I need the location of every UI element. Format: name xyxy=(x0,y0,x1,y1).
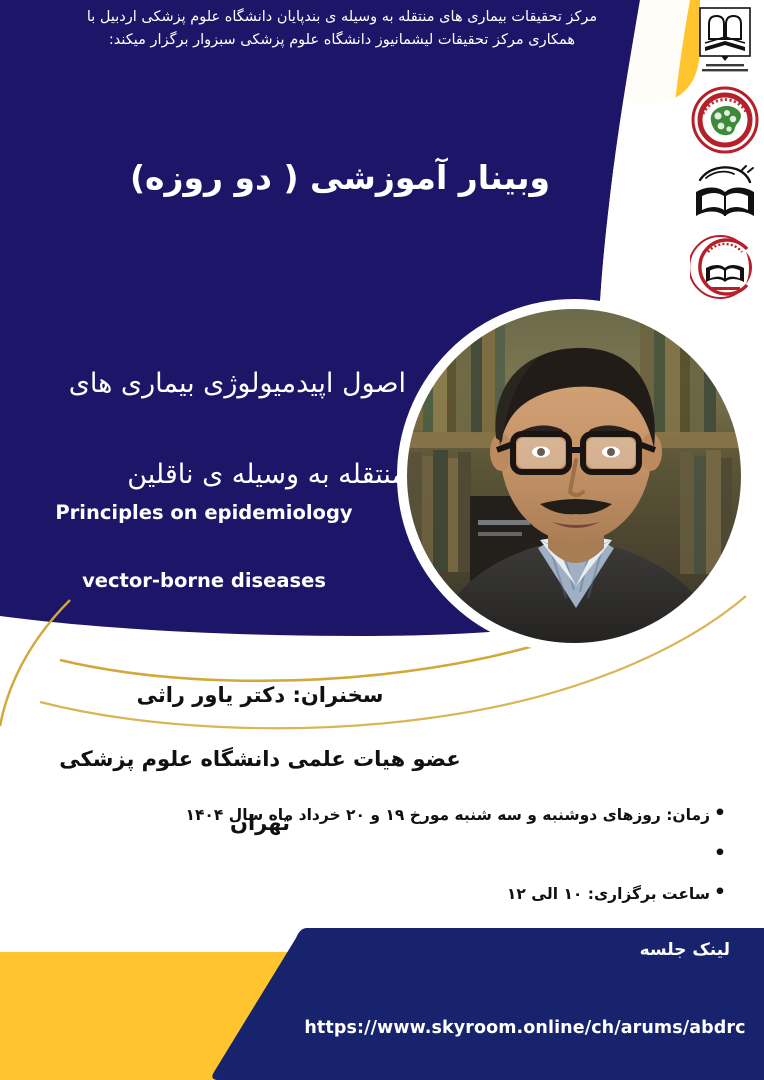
topic-english: Principles on epidemiology vector-borne … xyxy=(18,462,390,633)
speaker-name-line: سخنران: دکتر یاور راثی xyxy=(20,680,500,712)
abdrc-logo-icon xyxy=(691,86,759,154)
speaker-affiliation-line: عضو هیات علمی دانشگاه علوم پزشکی xyxy=(20,744,500,776)
arums-logo xyxy=(686,4,764,76)
poster-canvas: مرکز تحقیقات بیماری های منتقله به وسیله … xyxy=(0,0,764,1080)
leishmaniasis-research-center-logo xyxy=(686,230,764,304)
logo-strip xyxy=(686,0,764,310)
meeting-link-label: لینک جلسه xyxy=(430,940,730,960)
topic-farsi-line-1: اصول اپیدمیولوژی بیماری های xyxy=(10,361,406,406)
topic-english-line-1: Principles on epidemiology xyxy=(18,496,390,530)
organizer-header: مرکز تحقیقات بیماری های منتقله به وسیله … xyxy=(78,6,606,53)
arums-logo-icon xyxy=(692,5,758,75)
schedule-item-blank xyxy=(30,846,710,864)
schedule-section: زمان: روزهای دوشنبه و سه شنبه مورخ ۱۹ و … xyxy=(30,806,732,924)
schedule-item-time: ساعت برگزاری: ۱۰ الی ۱۲ xyxy=(30,885,710,904)
schedule-item-date: زمان: روزهای دوشنبه و سه شنبه مورخ ۱۹ و … xyxy=(30,806,710,825)
sabzevar-medical-logo xyxy=(686,160,764,228)
meeting-url-link[interactable]: https://www.skyroom.online/ch/arums/abdr… xyxy=(300,1018,750,1038)
leishmaniasis-research-center-logo-icon xyxy=(690,232,760,302)
abdrc-logo xyxy=(686,84,764,156)
schedule-list: زمان: روزهای دوشنبه و سه شنبه مورخ ۱۹ و … xyxy=(30,806,732,903)
sabzevar-medical-logo-icon xyxy=(690,162,760,226)
webinar-title: وبینار آموزشی ( دو روزه) xyxy=(60,158,620,197)
topic-english-line-2: vector-borne diseases xyxy=(18,564,390,598)
